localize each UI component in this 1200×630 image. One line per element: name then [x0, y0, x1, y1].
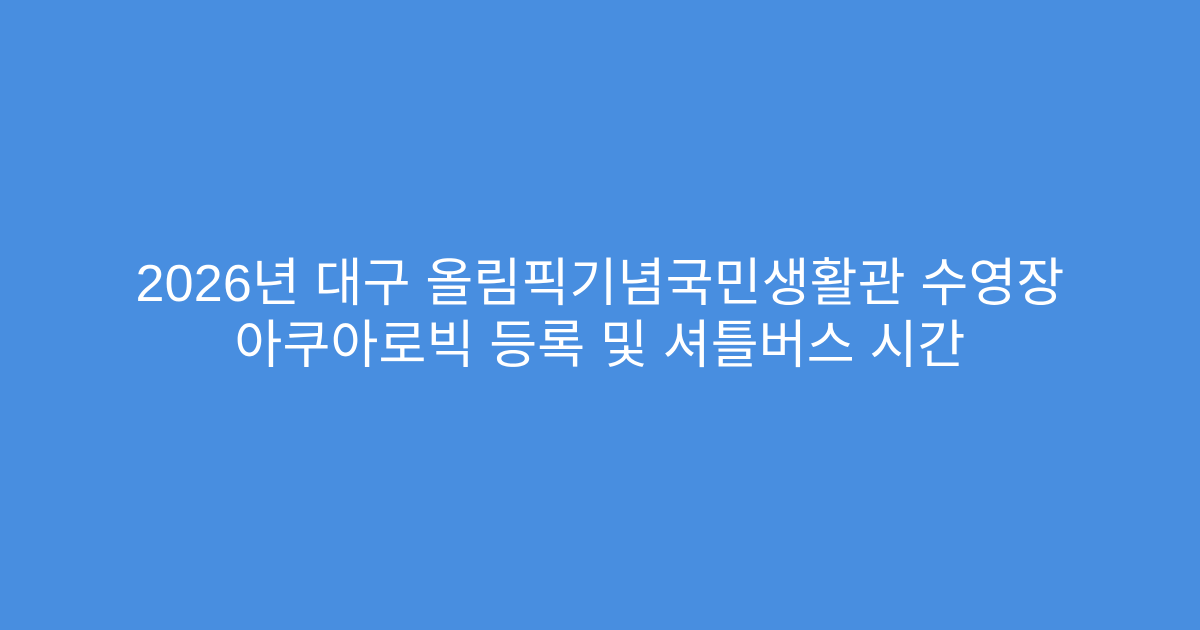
- page-title-line-1: 2026년 대구 올림픽기념국민생활관 수영장: [60, 253, 1140, 315]
- page-title: 2026년 대구 올림픽기념국민생활관 수영장 아쿠아로빅 등록 및 셔틀버스 …: [60, 253, 1140, 377]
- page-title-line-2: 아쿠아로빅 등록 및 셔틀버스 시간: [60, 315, 1140, 377]
- og-card: 2026년 대구 올림픽기념국민생활관 수영장 아쿠아로빅 등록 및 셔틀버스 …: [0, 0, 1200, 630]
